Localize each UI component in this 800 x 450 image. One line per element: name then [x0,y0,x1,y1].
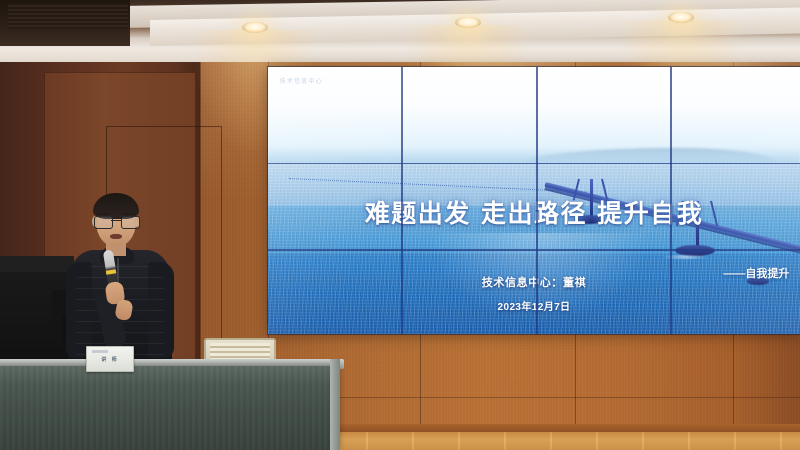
glasses-lens-left [94,216,113,229]
name-card-header-bar [92,350,108,353]
video-wall-seam-vertical [401,67,403,334]
lectern-top [0,256,74,272]
presenter-eyebrow-right [122,213,136,215]
table-right-edge [330,359,340,450]
slide-title: 难题出发 走出路径 提升自我 [268,194,800,230]
slide-corner-note: 技术信息中心 [280,76,323,85]
head-table[interactable] [0,366,340,450]
screenshot-root: 技术信息中心 难题出发 走出路径 提升自我 ——自我提升 技术信息中心：董祺 2… [0,0,800,450]
video-wall-seam-horizontal [268,249,800,251]
downlight-icon [242,22,268,33]
video-wall-seam-horizontal [268,163,800,165]
glasses-lens-right [121,216,140,229]
slide-water-wake [662,254,708,260]
downlight-icon [455,17,481,28]
presentation-slide: 技术信息中心 难题出发 走出路径 提升自我 ——自我提升 技术信息中心：董祺 2… [268,67,800,334]
slide-date-line: 2023年12月7日 [268,298,800,313]
presenter-eyebrow-left [96,213,110,215]
name-card[interactable]: 讲 师 [86,346,134,372]
air-vent-icon [8,3,128,29]
presenter [66,196,174,371]
slide-department-line: 技术信息中心：董祺 [268,274,800,290]
video-wall-seam-vertical [536,67,538,334]
table-skirt-texture [0,366,340,450]
video-wall-display[interactable]: 技术信息中心 难题出发 走出路径 提升自我 ——自我提升 技术信息中心：董祺 2… [268,67,800,334]
name-card-text: 讲 师 [101,356,118,363]
video-wall-seam-vertical [670,67,672,334]
ceiling-dark-section [0,0,130,46]
presenter-mouth [110,234,122,239]
downlight-icon [668,12,694,23]
glasses-icon [94,216,138,227]
glasses-bridge [111,220,121,221]
